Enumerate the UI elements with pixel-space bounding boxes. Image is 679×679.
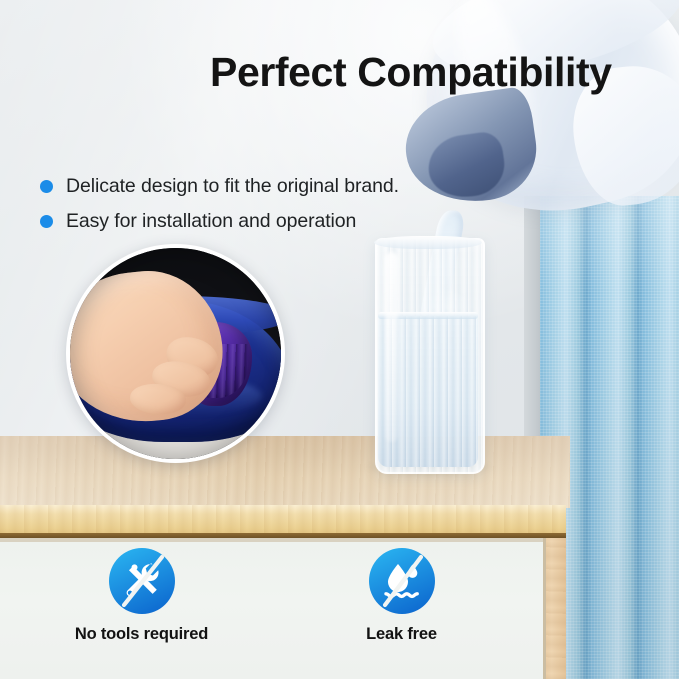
no-leak-icon xyxy=(369,548,435,614)
list-item: Easy for installation and operation xyxy=(40,207,460,236)
feature-label: No tools required xyxy=(75,625,208,644)
no-tools-icon xyxy=(109,548,175,614)
feature-badge-row: No tools required Leak free xyxy=(0,548,543,644)
bullet-dot-icon xyxy=(40,180,53,193)
feature-bullet-list: Delicate design to fit the original bran… xyxy=(40,172,460,242)
drinking-glass xyxy=(375,238,481,470)
glass-highlight xyxy=(385,252,398,442)
lower-panel-top-edge xyxy=(0,538,543,542)
list-item: Delicate design to fit the original bran… xyxy=(40,172,460,201)
bullet-text: Delicate design to fit the original bran… xyxy=(66,175,399,198)
page-title: Perfect Compatibility xyxy=(210,49,612,96)
installation-closeup-photo xyxy=(66,244,285,463)
feature-label: Leak free xyxy=(366,625,437,644)
bullet-dot-icon xyxy=(40,215,53,228)
product-marketing-image: Perfect Compatibility Delicate design to… xyxy=(0,0,679,679)
feature-no-tools: No tools required xyxy=(58,548,226,644)
feature-leak-free: Leak free xyxy=(318,548,486,644)
bullet-text: Easy for installation and operation xyxy=(66,210,356,233)
